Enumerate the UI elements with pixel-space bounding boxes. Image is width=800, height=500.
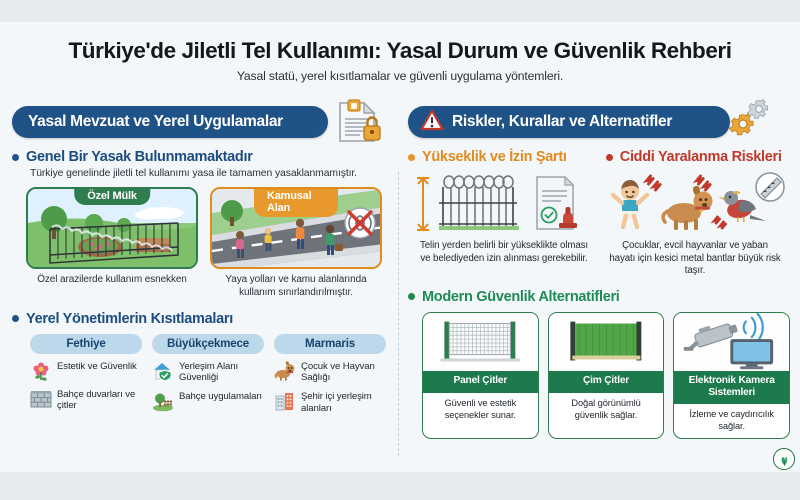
- risk-height-permit: Telin yerden belirli bir yükseklikte olm…: [408, 170, 600, 278]
- flower-icon: [30, 360, 52, 382]
- warning-triangle-icon: [420, 109, 444, 136]
- razor-blade-badge: [756, 173, 784, 201]
- grass-hedge-fence-icon: [549, 313, 664, 371]
- permit-document: [537, 177, 577, 229]
- list-item: Estetik ve Güvenlik: [30, 360, 142, 382]
- alt-card-desc: Güvenli ve estetik seçenekler sunar.: [423, 393, 538, 428]
- alt-card-desc: Doğal görünümlü güvenlik sağlar.: [549, 393, 664, 428]
- section1-heading: Genel Bir Yasak Bulunmamaktadır: [26, 149, 253, 165]
- heading-injury-risk-wrap: Ciddi Yaralanma Riskleri: [606, 149, 790, 165]
- bullet-dot-icon: [12, 315, 19, 322]
- brick-wall-icon: [30, 388, 52, 410]
- bullet-dot-icon: [408, 293, 415, 300]
- alternative-cards: Panel Çitler Güvenli ve estetik seçenekl…: [422, 312, 790, 440]
- left-banner-title: Yasal Mevzuat ve Yerel Uygulamalar: [28, 113, 283, 131]
- bullet-dot-icon: [408, 154, 415, 161]
- property-type-cards: Özel Mülk: [26, 187, 386, 300]
- mesh-panel-fence-icon: [423, 313, 538, 371]
- top-letterbox-band: [0, 0, 800, 22]
- child-dog-bird-razor-hazard-icon: [600, 170, 790, 240]
- left-column: Yasal Mevzuat ve Yerel Uygulamalar: [0, 94, 398, 472]
- risk-illustrations-row: Telin yerden belirli bir yükseklikte olm…: [408, 170, 790, 278]
- alt-card-camera-system[interactable]: Elektronik Kamera Sistemleri İzleme ve c…: [673, 312, 790, 440]
- list-item: Çocuk ve Hayvan Sağlığı: [274, 360, 386, 384]
- list-item: Şehir içi yerleşim alanları: [274, 390, 386, 414]
- pedestrian-figure: [236, 231, 244, 258]
- gears-icon: [726, 96, 778, 144]
- city-buildings-icon: [274, 390, 296, 412]
- bottom-letterbox-band: [0, 472, 800, 500]
- section2-heading: Yerel Yönetimlerin Kısıtlamaları: [26, 311, 233, 327]
- private-property-illustration: Özel Mülk: [26, 187, 198, 269]
- list-item: Bahçe duvarları ve çitler: [30, 388, 142, 412]
- municipality-marmaris: Marmaris: [274, 334, 386, 415]
- right-section-banner: Riskler, Kurallar ve Alternatifler: [408, 106, 730, 138]
- bullet-dot-icon: [606, 154, 613, 161]
- bullet-dot-icon: [12, 154, 19, 161]
- municipality-name: Fethiye: [30, 334, 142, 354]
- razor-wire-fence-height-and-permit-icon: [408, 170, 600, 240]
- municipality-item-label: Şehir içi yerleşim alanları: [301, 390, 386, 414]
- list-item: Bahçe uygulamaları: [152, 390, 264, 412]
- page-title: Türkiye'de Jiletli Tel Kullanımı: Yasal …: [0, 22, 800, 63]
- pedestrian-figure: [265, 228, 272, 251]
- municipality-item-label: Çocuk ve Hayvan Sağlığı: [301, 360, 386, 384]
- heading-local-restrictions: Yerel Yönetimlerin Kısıtlamaları: [12, 311, 386, 327]
- municipality-columns: Fethiye Esteti: [30, 334, 386, 415]
- card-public-area: Kamusal Alan: [210, 187, 382, 300]
- section1-lead: Türkiye genelinde jiletli tel kullanımı …: [30, 168, 386, 179]
- alt-card-title: Panel Çitler: [423, 371, 538, 393]
- alt-card-title: Çim Çitler: [549, 371, 664, 393]
- child-figure: [613, 180, 647, 227]
- alt-card-desc: İzleme ve caydırıcılık sağlar.: [674, 404, 789, 439]
- alt-card-panel-fence[interactable]: Panel Çitler Güvenli ve estetik seçenekl…: [422, 312, 539, 440]
- municipality-name: Marmaris: [274, 334, 386, 354]
- infographic-content: Türkiye'de Jiletli Tel Kullanımı: Yasal …: [0, 22, 800, 472]
- municipality-buyukcekmece: Büyükçekmece Y: [152, 334, 264, 415]
- public-area-caption: Yaya yolları ve kamu alanlarında kullanı…: [210, 274, 382, 300]
- heading-injury-risk: Ciddi Yaralanma Riskleri: [606, 149, 790, 165]
- garden-tree-icon: [152, 390, 174, 412]
- heading-height-permit: Yükseklik ve İzin Şartı: [408, 149, 606, 165]
- card-private-property: Özel Mülk: [26, 187, 198, 300]
- alternatives-heading: Modern Güvenlik Alternatifleri: [422, 289, 620, 305]
- municipality-item-label: Bahçe duvarları ve çitler: [57, 388, 142, 412]
- infographic-page: Türkiye'de Jiletli Tel Kullanımı: Yasal …: [0, 0, 800, 500]
- security-camera-monitor-icon: [674, 313, 789, 371]
- public-area-tag: Kamusal Alan: [254, 188, 338, 217]
- risk2-caption: Çocuklar, evcil hayvanlar ve yaban hayat…: [600, 240, 790, 278]
- dog-icon: [274, 360, 296, 382]
- right-column: Riskler, Kurallar ve Alternatifler: [398, 94, 800, 472]
- private-property-caption: Özel arazilerde kullanım esnekken: [26, 274, 198, 287]
- municipality-item-label: Yerleşim Alanı Güvenliği: [179, 360, 264, 384]
- alt-card-title: Elektronik Kamera Sistemleri: [674, 371, 789, 404]
- heading-general-ban: Genel Bir Yasak Bulunmamaktadır: [12, 149, 386, 165]
- risk-serious-injury: Çocuklar, evcil hayvanlar ve yaban hayat…: [600, 170, 790, 278]
- alt-card-grass-fence[interactable]: Çim Çitler Doğal görünümlü güvenlik sağl…: [548, 312, 665, 440]
- dog-figure: [663, 186, 712, 230]
- document-lock-icon: [328, 98, 386, 146]
- municipality-item-label: Bahçe uygulamaları: [179, 390, 262, 403]
- risk2-heading: Ciddi Yaralanma Riskleri: [620, 149, 782, 165]
- private-property-tag: Özel Mülk: [74, 188, 150, 205]
- page-subtitle: Yasal statü, yerel kısıtlamalar ve güven…: [0, 69, 800, 83]
- house-shield-icon: [152, 360, 174, 382]
- risk1-heading: Yükseklik ve İzin Şartı: [422, 149, 567, 165]
- no-razor-wire-sign: [345, 208, 375, 238]
- heading-modern-alternatives: Modern Güvenlik Alternatifleri: [408, 289, 790, 305]
- municipality-item-label: Estetik ve Güvenlik: [57, 360, 137, 373]
- two-column-layout: Yasal Mevzuat ve Yerel Uygulamalar: [0, 94, 800, 472]
- right-banner-title: Riskler, Kurallar ve Alternatifler: [452, 113, 672, 131]
- municipality-fethiye: Fethiye Esteti: [30, 334, 142, 415]
- municipality-name: Büyükçekmece: [152, 334, 264, 354]
- heading-height-permit-wrap: Yükseklik ve İzin Şartı: [408, 149, 606, 165]
- risk1-caption: Telin yerden belirli bir yükseklikte olm…: [408, 240, 600, 265]
- alert-spark: [646, 175, 661, 191]
- public-area-illustration: Kamusal Alan: [210, 187, 382, 269]
- list-item: Yerleşim Alanı Güvenliği: [152, 360, 264, 384]
- risk-headings-row: Yükseklik ve İzin Şartı Ciddi Yaralanma …: [408, 149, 790, 165]
- left-section-banner: Yasal Mevzuat ve Yerel Uygulamalar: [12, 106, 328, 138]
